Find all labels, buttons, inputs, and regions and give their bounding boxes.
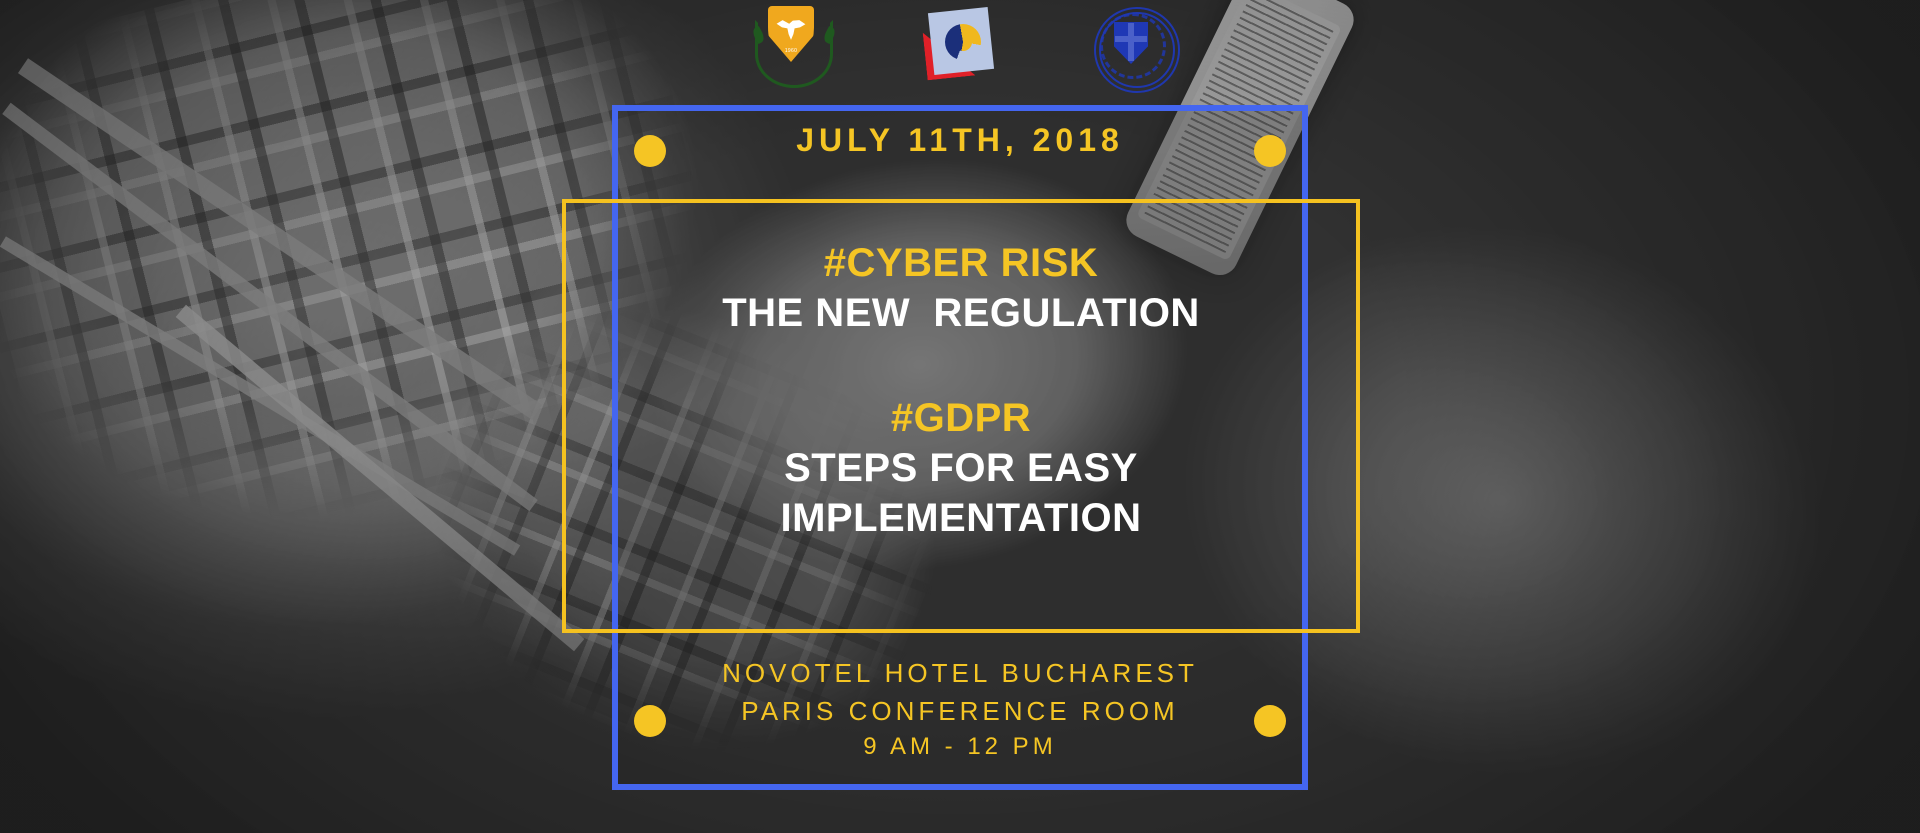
venue-hotel: NOVOTEL HOTEL BUCHAREST	[612, 655, 1308, 693]
greece-cross-horizontal-icon	[1115, 36, 1147, 42]
venue-room: PARIS CONFERENCE ROOM	[612, 693, 1308, 731]
venue-block: NOVOTEL HOTEL BUCHAREST PARIS CONFERENCE…	[612, 655, 1308, 765]
swirl-spiral-icon	[945, 24, 981, 60]
headline-block-secondary: #GDPR STEPS FOR EASY IMPLEMENTATION	[562, 395, 1360, 541]
headline-main-steps: STEPS FOR EASY	[562, 445, 1360, 491]
headline-block-primary: #CYBER RISK THE NEW REGULATION	[562, 240, 1360, 336]
swirl-emblem-icon	[925, 4, 999, 82]
headline-main-implementation: IMPLEMENTATION	[562, 495, 1360, 541]
cyprus-coat-of-arms-icon: 1960	[749, 4, 833, 84]
cyprus-year-label: 1960	[775, 48, 807, 54]
headline-accent-gdpr: #GDPR	[562, 395, 1360, 441]
headline-accent-cyber-risk: #CYBER RISK	[562, 240, 1360, 286]
event-date: JULY 11TH, 2018	[612, 122, 1308, 159]
greece-coat-of-arms-icon	[1091, 4, 1171, 84]
greece-cross-vertical-icon	[1128, 23, 1134, 61]
headline-main-regulation: THE NEW REGULATION	[562, 290, 1360, 336]
logo-row: 1960	[0, 0, 1920, 88]
event-banner: 1960 JULY 11TH, 2018 #CYBER RISK THE NEW…	[0, 0, 1920, 833]
venue-time: 9 AM - 12 PM	[612, 730, 1308, 765]
